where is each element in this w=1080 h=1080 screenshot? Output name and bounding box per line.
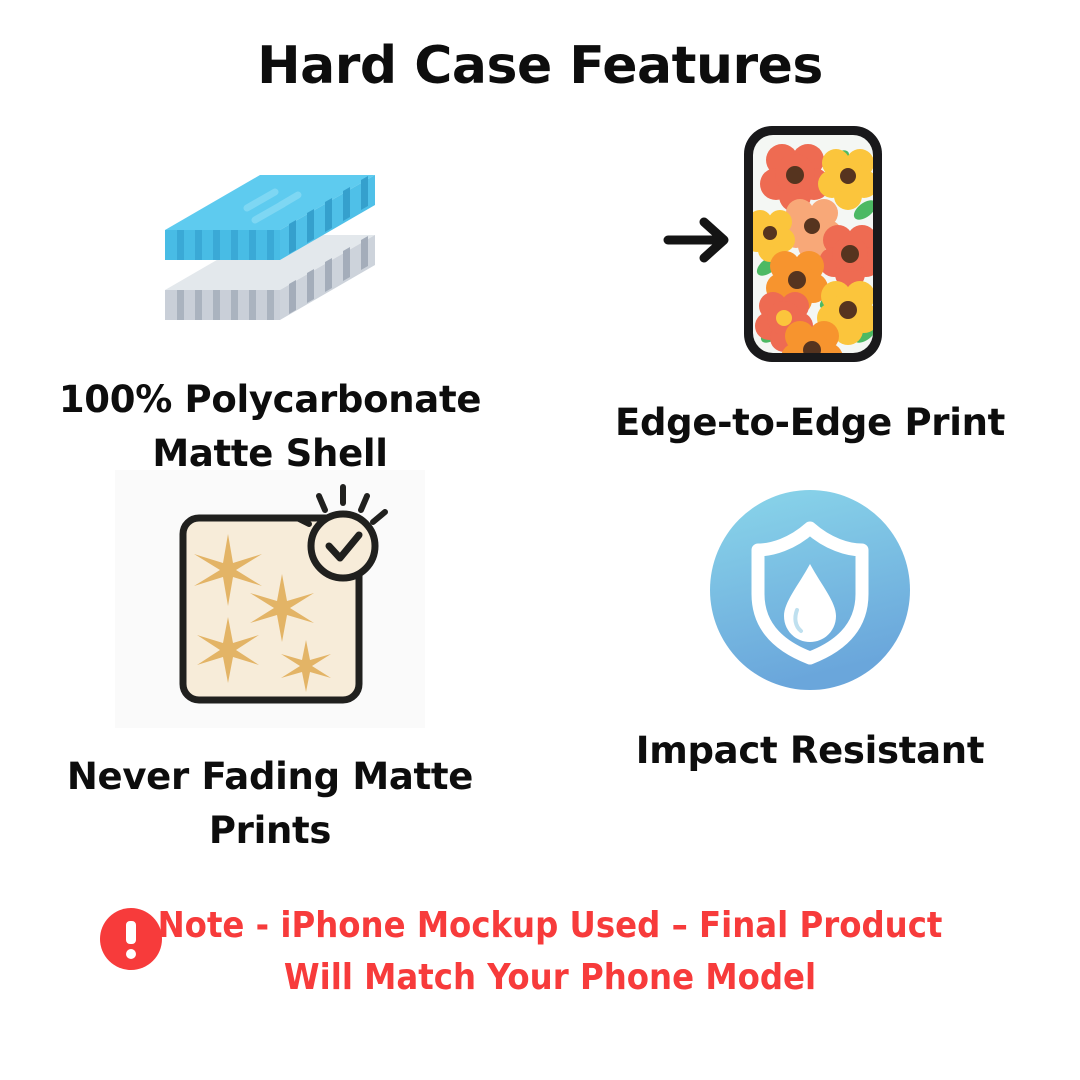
note-banner: Note - iPhone Mockup Used – Final Produc…	[0, 900, 1080, 1004]
shield-waterdrop-icon	[710, 490, 910, 690]
feature-item-polycarbonate-shell: 100% Polycarbonate Matte Shell	[0, 130, 540, 480]
exclamation-stem	[126, 921, 136, 944]
feature-item-never-fading-prints: Never Fading Matte Prints	[0, 470, 540, 857]
feature-item-edge-to-edge-print: Edge-to-Edge Print	[540, 118, 1080, 450]
exclamation-dot	[126, 949, 136, 959]
feature-label-never-fading-prints: Never Fading Matte Prints	[0, 750, 540, 857]
exclamation-circle-icon	[100, 908, 162, 970]
feature-label-polycarbonate-shell: 100% Polycarbonate Matte Shell	[0, 373, 540, 480]
page-title: Hard Case Features	[0, 36, 1080, 96]
arrow-right-icon	[668, 222, 724, 258]
feature-label-impact-resistant: Impact Resistant	[540, 724, 1080, 778]
feature-label-edge-to-edge-print: Edge-to-Edge Print	[540, 396, 1080, 450]
note-text: Note - iPhone Mockup Used – Final Produc…	[120, 900, 980, 1004]
feature-grid: 100% Polycarbonate Matte Shell	[0, 130, 1080, 890]
floral-phone-case-icon	[660, 118, 960, 368]
sparkle-card-check-icon	[115, 470, 425, 728]
feature-item-impact-resistant: Impact Resistant	[540, 490, 1080, 778]
layered-slab-icon	[155, 130, 385, 345]
